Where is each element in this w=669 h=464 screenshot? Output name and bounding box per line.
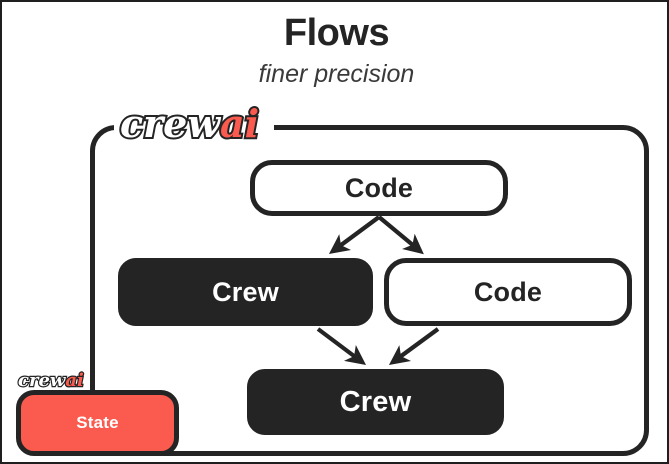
crewai-logo-ai: ai [220,101,259,146]
crewai-logo: crewai [120,105,259,143]
node-label: State [76,413,119,433]
node-code-mid[interactable]: Code [384,258,632,326]
node-state[interactable]: State [16,390,179,456]
node-crew-mid[interactable]: Crew [118,258,373,326]
crewai-logo-small: crewai [18,372,84,390]
node-code-top[interactable]: Code [250,160,508,216]
crewai-logo-crew: crew [120,101,220,146]
node-label: Code [474,277,542,308]
flows-diagram-canvas: Flows finer precision Code Crew Code Cre… [0,0,669,464]
node-crew-bot[interactable]: Crew [247,369,504,435]
node-label: Code [345,173,413,204]
crewai-logo-small-ai: ai [65,370,84,391]
node-label: Crew [340,386,412,419]
node-label: Crew [212,277,279,308]
crewai-logo-small-crew: crew [18,370,65,391]
page-title: Flows [2,12,669,55]
page-subtitle: finer precision [2,60,669,89]
